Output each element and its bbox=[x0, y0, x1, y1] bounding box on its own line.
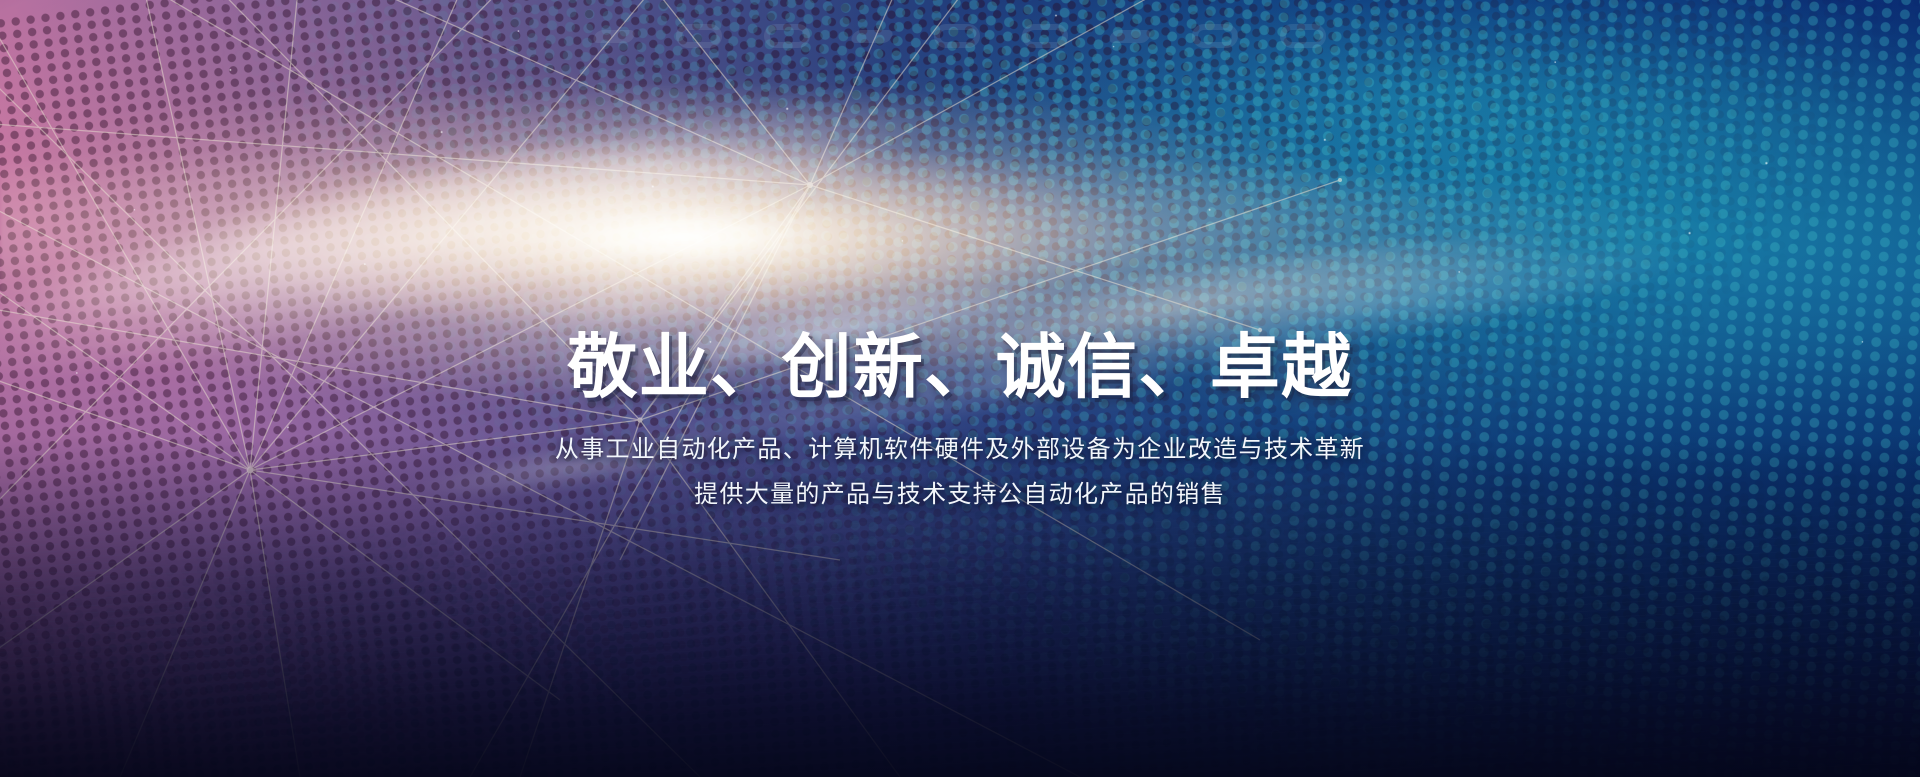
banner-subtitle-line-1: 从事工业自动化产品、计算机软件硬件及外部设备为企业改造与技术革新 bbox=[0, 428, 1920, 472]
banner-subtitle: 从事工业自动化产品、计算机软件硬件及外部设备为企业改造与技术革新 提供大量的产品… bbox=[0, 428, 1920, 517]
hero-banner: 敬业、创新、诚信、卓越 从事工业自动化产品、计算机软件硬件及外部设备为企业改造与… bbox=[0, 0, 1920, 777]
banner-subtitle-line-2: 提供大量的产品与技术支持公自动化产品的销售 bbox=[0, 473, 1920, 517]
chain-link-icon bbox=[0, 10, 1920, 62]
banner-headline: 敬业、创新、诚信、卓越 bbox=[0, 330, 1920, 404]
banner-copy-block: 敬业、创新、诚信、卓越 从事工业自动化产品、计算机软件硬件及外部设备为企业改造与… bbox=[0, 330, 1920, 517]
